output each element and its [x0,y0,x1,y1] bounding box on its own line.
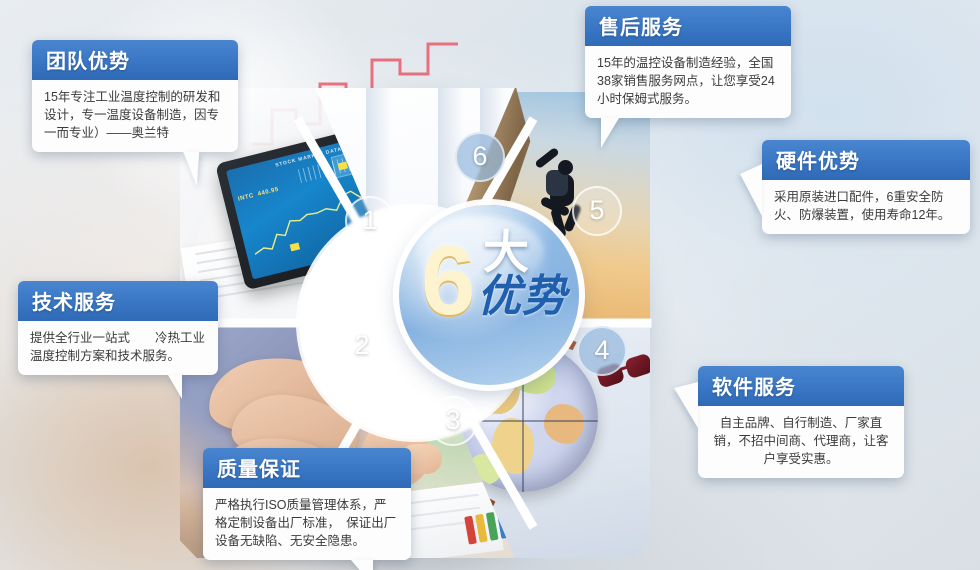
card-software-title: 软件服务 [698,366,904,406]
card-technical-title: 技术服务 [18,281,218,321]
card-quality-body: 严格执行ISO质量管理体系，严格定制设备出厂标准， 保证出厂设备无缺陷、无安全隐… [203,488,411,560]
tablet-ticker-price: 440.95 [257,187,279,198]
card-after-sales-pointer [601,118,619,148]
badge-unit: 大 [483,229,529,275]
marker-2[interactable]: 2 [337,321,387,371]
marker-1[interactable]: 1 [345,196,395,246]
card-technical-pointer [168,375,182,399]
center-badge: 6 大 优势 [399,205,579,385]
card-quality-assurance[interactable]: 质量保证 严格执行ISO质量管理体系，严格定制设备出厂标准， 保证出厂设备无缺陷… [203,448,411,560]
card-team-advantage[interactable]: 团队优势 15年专注工业温度控制的研发和设计，专一温度设备制造，因专一而专业）—… [32,40,238,152]
badge-word: 优势 [477,275,567,319]
card-software-pointer [674,382,698,428]
card-technical-body: 提供全行业一站式 冷热工业温度控制方案和技术服务。 [18,321,218,375]
card-hardware-body: 采用原装进口配件，6重安全防火、防爆装置，使用寿命12年。 [762,180,970,234]
card-software-service[interactable]: 软件服务 自主品牌、自行制造、厂家直销，不招中间商、代理商，让客户享受实惠。 [698,366,904,478]
card-team-body: 15年专注工业温度控制的研发和设计，专一温度设备制造，因专一而专业）——奥兰特 [32,80,238,152]
card-hardware-pointer [740,164,762,216]
card-after-sales-body: 15年的温控设备制造经验，全国38家销售服务网点，让您享受24小时保姆式服务。 [585,46,791,118]
card-hardware-advantage[interactable]: 硬件优势 采用原装进口配件，6重安全防火、防爆装置，使用寿命12年。 [762,140,970,234]
card-technical-service[interactable]: 技术服务 提供全行业一站式 冷热工业温度控制方案和技术服务。 [18,281,218,375]
badge-number: 6 [421,231,476,329]
card-quality-title: 质量保证 [203,448,411,488]
marker-3[interactable]: 3 [428,396,478,446]
card-after-sales-title: 售后服务 [585,6,791,46]
card-hardware-title: 硬件优势 [762,140,970,180]
marker-6[interactable]: 6 [455,132,505,182]
marker-4[interactable]: 4 [577,326,627,376]
marker-5[interactable]: 5 [572,186,622,236]
tablet-ticker: INTC 440.95 [238,187,280,203]
card-after-sales[interactable]: 售后服务 15年的温控设备制造经验，全国38家销售服务网点，让您享受24小时保姆… [585,6,791,118]
infographic-canvas: STOCK MARKET DATA INTC 440.95 [0,0,980,570]
card-team-title: 团队优势 [32,40,238,80]
tablet-ticker-symbol: INTC [238,193,255,203]
card-software-body: 自主品牌、自行制造、厂家直销，不招中间商、代理商，让客户享受实惠。 [698,406,904,478]
card-quality-pointer [351,560,373,570]
card-team-pointer [181,152,199,186]
